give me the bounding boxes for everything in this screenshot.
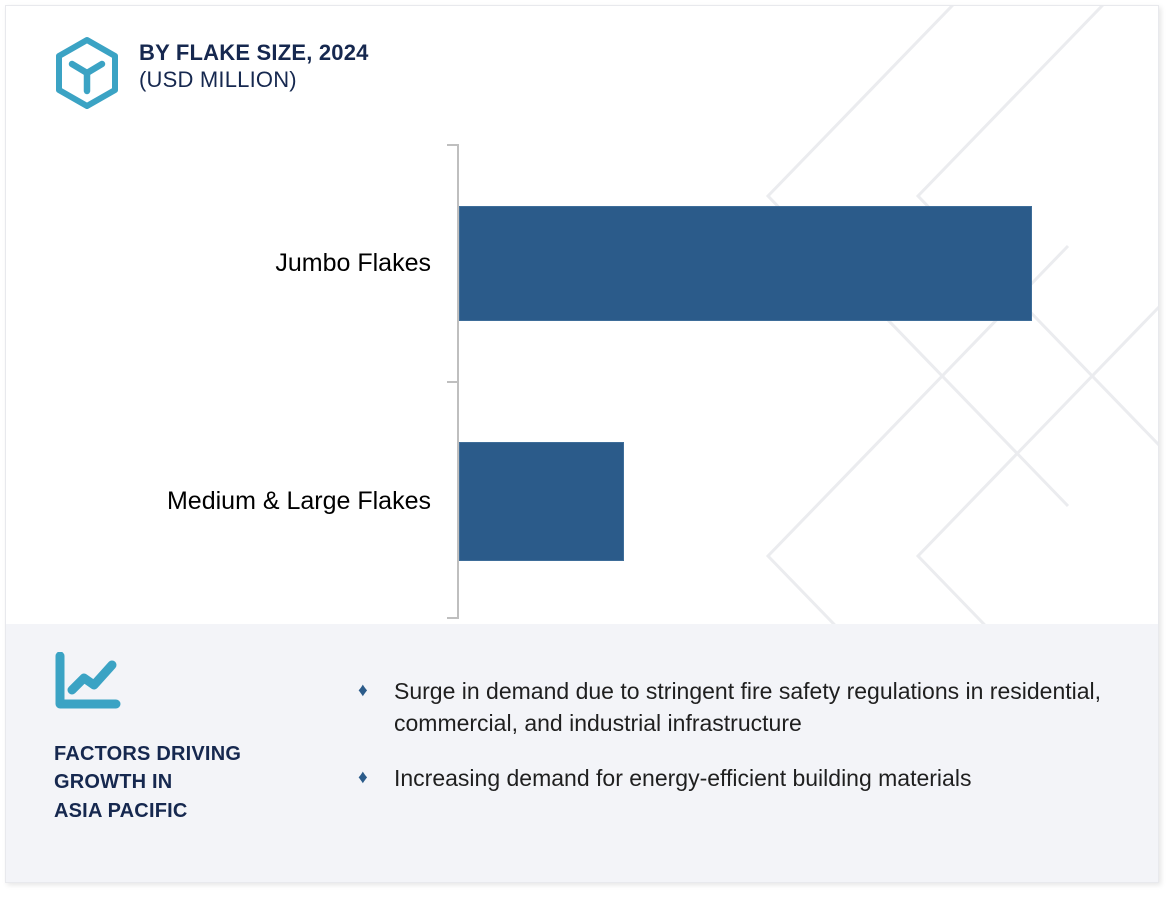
list-item-text: Increasing demand for energy-efficient b… <box>394 763 971 795</box>
panel-title: FACTORS DRIVING GROWTH IN ASIA PACIFIC <box>54 740 324 825</box>
diamond-bullet-icon: ♦ <box>358 763 394 794</box>
panel-title-line: GROWTH IN <box>54 768 324 796</box>
header-text-block: BY FLAKE SIZE, 2024 (USD MILLION) <box>139 34 369 94</box>
panel-title-line: FACTORS DRIVING <box>54 740 324 768</box>
diamond-bullet-icon: ♦ <box>358 676 394 707</box>
page-title: BY FLAKE SIZE, 2024 <box>139 40 369 67</box>
factors-list: ♦ Surge in demand due to stringent fire … <box>358 676 1158 819</box>
chart-bar-row: Jumbo Flakes <box>6 206 1158 321</box>
hexagon-y-icon <box>51 36 123 110</box>
page-subtitle: (USD MILLION) <box>139 67 369 94</box>
factors-panel: FACTORS DRIVING GROWTH IN ASIA PACIFIC ♦… <box>6 624 1158 882</box>
list-item: ♦ Increasing demand for energy-efficient… <box>358 763 1158 795</box>
axis-tick <box>447 617 458 619</box>
infographic-card: BY FLAKE SIZE, 2024 (USD MILLION) Jumbo … <box>5 5 1159 883</box>
axis-tick <box>447 144 458 146</box>
list-item-text: Surge in demand due to stringent fire sa… <box>394 676 1154 739</box>
bar-medium-large-flakes[interactable] <box>459 442 624 561</box>
list-item: ♦ Surge in demand due to stringent fire … <box>358 676 1158 739</box>
bar-category-label: Medium & Large Flakes <box>167 489 431 514</box>
bar-jumbo-flakes[interactable] <box>459 206 1032 321</box>
bar-chart: Jumbo Flakes Medium & Large Flakes <box>6 136 1158 624</box>
chart-header: BY FLAKE SIZE, 2024 (USD MILLION) <box>51 34 369 110</box>
axis-tick <box>447 381 458 383</box>
chart-bar-row: Medium & Large Flakes <box>6 442 1158 561</box>
line-chart-icon <box>54 652 122 714</box>
panel-title-line: ASIA PACIFIC <box>54 797 324 825</box>
panel-heading-block: FACTORS DRIVING GROWTH IN ASIA PACIFIC <box>54 652 324 825</box>
bar-category-label: Jumbo Flakes <box>275 251 431 276</box>
